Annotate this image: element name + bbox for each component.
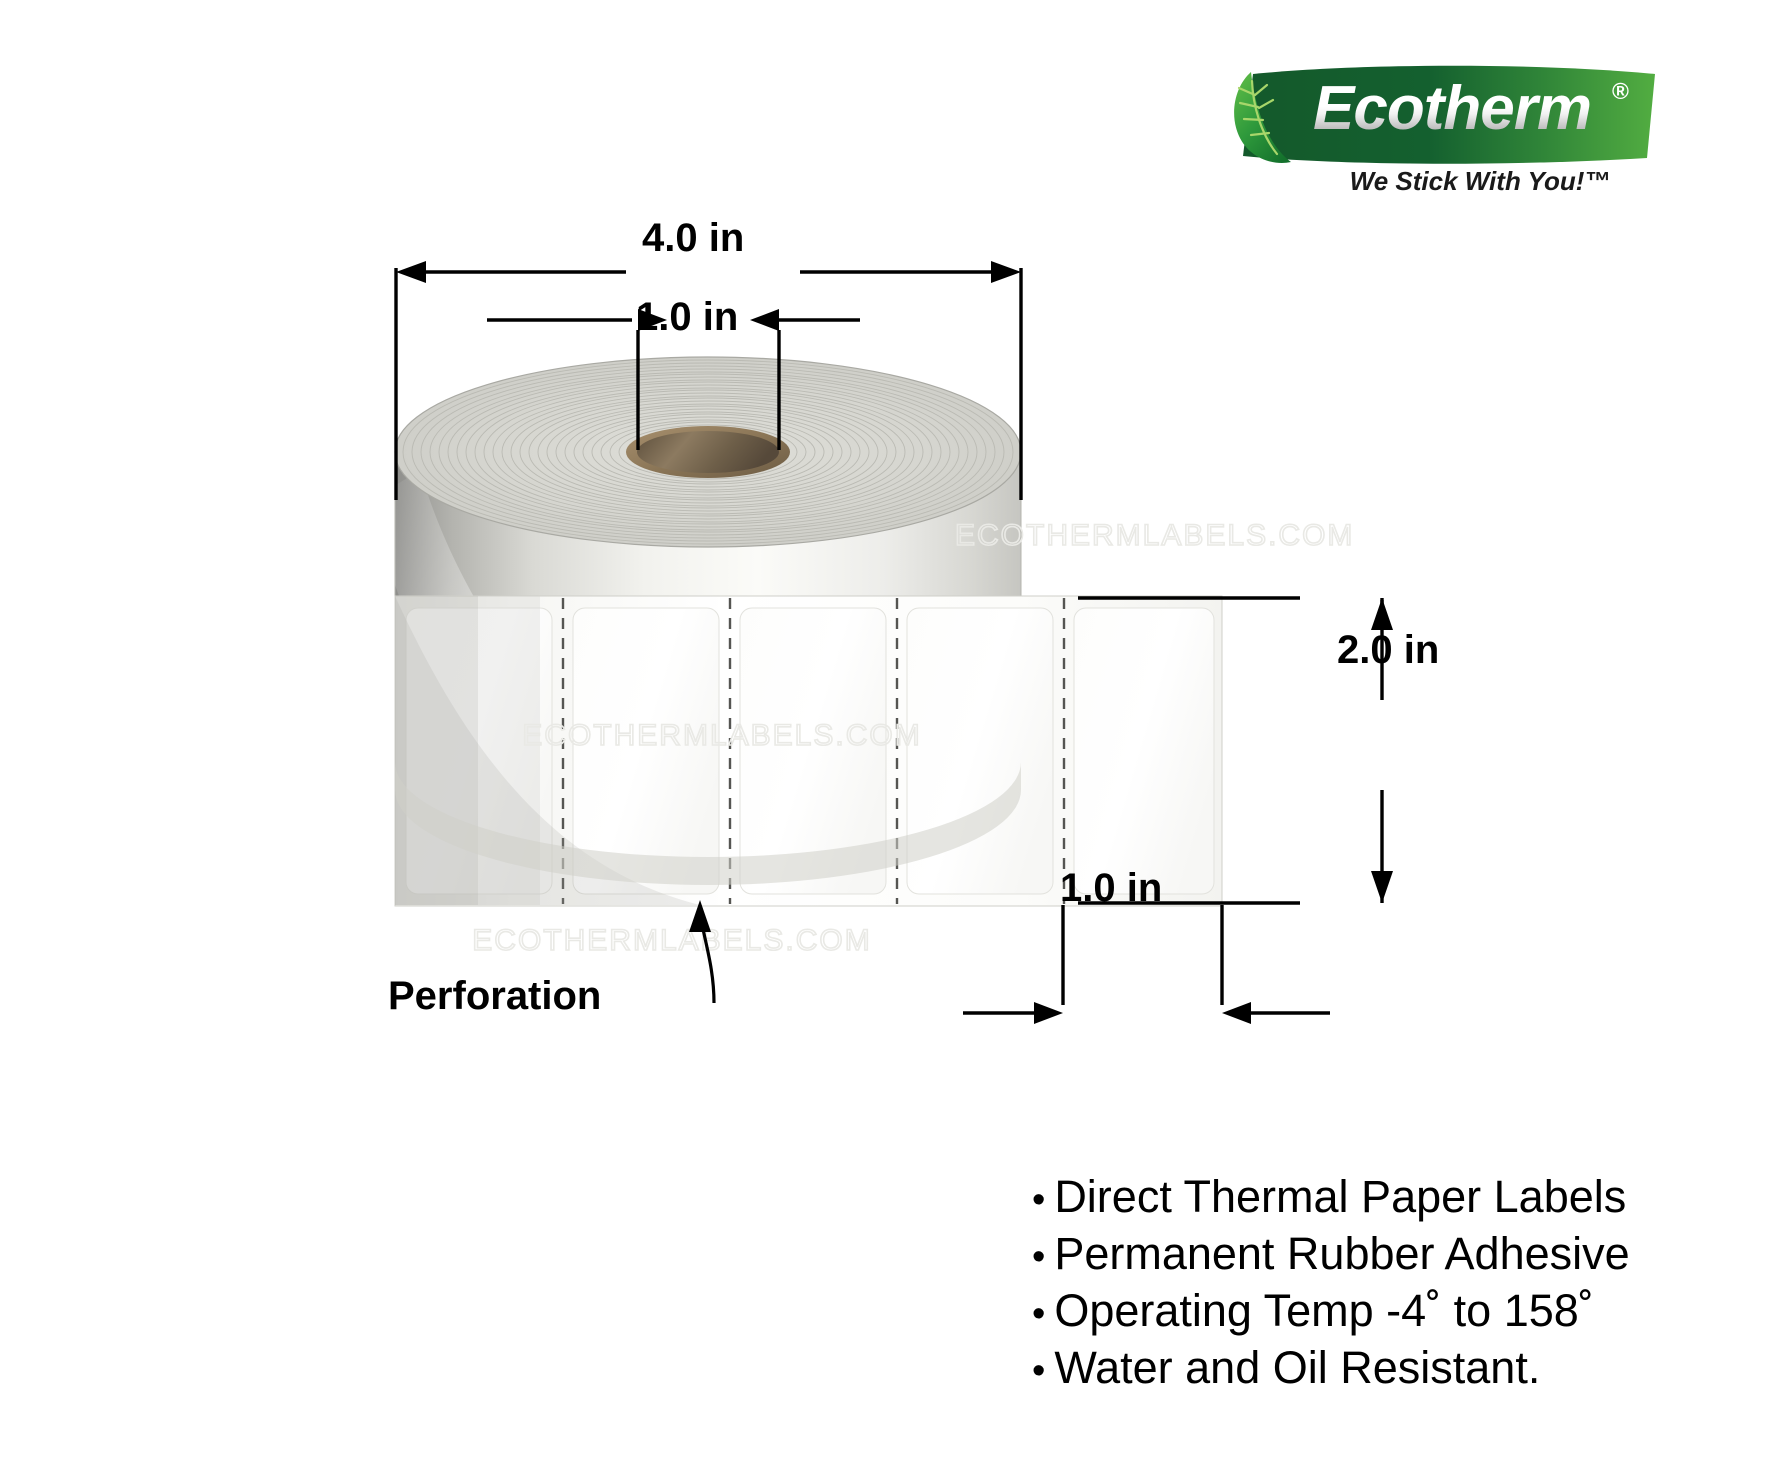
feature-item: • Direct Thermal Paper Labels bbox=[1032, 1168, 1732, 1225]
feature-item-label: Permanent Rubber Adhesive bbox=[1054, 1225, 1629, 1282]
feature-item-label: Direct Thermal Paper Labels bbox=[1054, 1168, 1626, 1225]
dimension-label-width: 1.0 in bbox=[1060, 868, 1162, 908]
dimension-label-roll-diameter: 4.0 in bbox=[642, 218, 744, 258]
svg-text:ECOTHERMLABELS.COM: ECOTHERMLABELS.COM bbox=[522, 719, 921, 752]
product-diagram-page: Ecotherm ® We Stick With You!™ bbox=[0, 0, 1772, 1476]
feature-item: • Permanent Rubber Adhesive bbox=[1032, 1225, 1732, 1282]
feature-item-label: Water and Oil Resistant. bbox=[1054, 1339, 1540, 1396]
roll-top-face bbox=[395, 357, 1021, 547]
feature-item-label: Operating Temp -4˚ to 158˚ bbox=[1054, 1282, 1593, 1339]
svg-text:ECOTHERMLABELS.COM: ECOTHERMLABELS.COM bbox=[955, 519, 1354, 552]
feature-list: • Direct Thermal Paper Labels • Permanen… bbox=[1032, 1168, 1732, 1397]
dimension-label-height: 2.0 in bbox=[1337, 630, 1439, 670]
bullet-icon: • bbox=[1032, 1347, 1045, 1395]
dimension-label-core-diameter: 1.0 in bbox=[636, 297, 738, 337]
svg-text:ECOTHERMLABELS.COM: ECOTHERMLABELS.COM bbox=[472, 924, 871, 957]
feature-item: • Water and Oil Resistant. bbox=[1032, 1339, 1732, 1396]
dimension-label-width bbox=[963, 905, 1330, 1024]
bullet-icon: • bbox=[1032, 1233, 1045, 1281]
feature-item: • Operating Temp -4˚ to 158˚ bbox=[1032, 1282, 1732, 1339]
bullet-icon: • bbox=[1032, 1290, 1045, 1338]
bullet-icon: • bbox=[1032, 1176, 1045, 1224]
perforation-text-label: Perforation bbox=[388, 976, 601, 1016]
